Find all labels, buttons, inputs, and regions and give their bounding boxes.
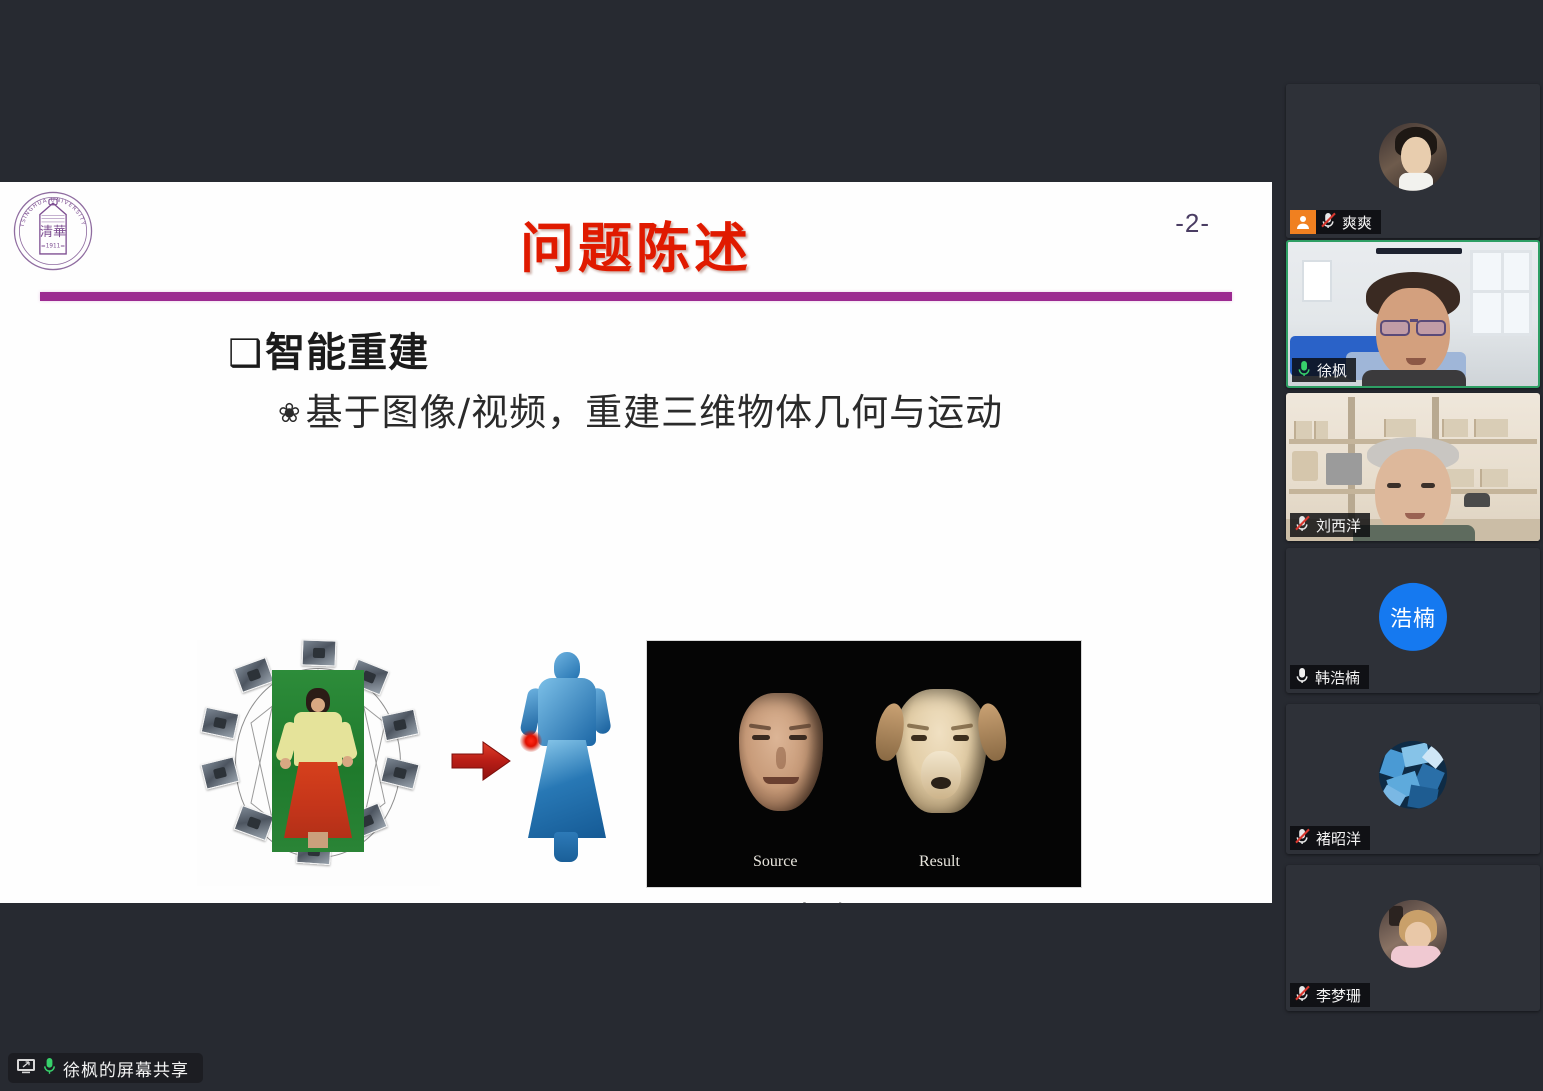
mic-on-icon (1295, 667, 1309, 688)
mic-on-icon (1297, 360, 1311, 381)
face-animation-figure: Source Result (646, 640, 1082, 888)
source-human-face (739, 693, 823, 811)
avatar-initials: 浩楠 (1390, 600, 1436, 632)
tile-name-chip: 韩浩楠 (1290, 665, 1369, 689)
green-screen-subject (272, 670, 364, 852)
video-subject (1354, 272, 1472, 388)
participant-name: 徐枫 (1317, 360, 1347, 381)
avatar (1379, 123, 1447, 191)
participant-tile[interactable]: 爽爽 (1286, 84, 1540, 238)
avatar: 浩楠 (1379, 582, 1447, 650)
rig-camera (200, 756, 239, 789)
video-subject (1359, 437, 1467, 541)
rig-camera (381, 709, 420, 742)
screen-share-icon (16, 1058, 36, 1079)
red-arrow-icon (450, 737, 512, 785)
tile-name-chip: 褚昭洋 (1290, 826, 1370, 850)
tile-badge-row: 韩浩楠 (1290, 665, 1369, 689)
participant-tile[interactable]: 刘西洋 (1286, 393, 1540, 541)
figure-caption-face-animation: 人脸动画 (790, 894, 914, 903)
camera-rig (197, 640, 440, 886)
result-dog-face (895, 689, 987, 813)
screen-share-status-badge: 徐枫的屏幕共享 (8, 1053, 203, 1083)
tile-name-chip: 李梦珊 (1290, 983, 1370, 1007)
tile-name-chip: 刘西洋 (1290, 513, 1370, 537)
tile-badge-row: 爽爽 (1290, 210, 1381, 234)
tile-badge-row: 褚昭洋 (1290, 826, 1370, 850)
tile-name-chip: 爽爽 (1316, 210, 1381, 234)
participant-name: 爽爽 (1342, 212, 1372, 233)
participant-tile[interactable]: 褚昭洋 (1286, 704, 1540, 854)
presentation-slide[interactable]: 清華 =1911= TSINGHUA UNIVERSITY 问题陈述 -2- ❑… (0, 182, 1272, 903)
participant-strip[interactable]: 爽爽 (1283, 0, 1543, 1091)
slide-page-number: -2- (1175, 208, 1210, 239)
share-badge-label: 徐枫的屏幕共享 (63, 1056, 189, 1081)
flower-bullet-glyph: ❀ (278, 398, 302, 429)
tile-badge-row: 刘西洋 (1290, 513, 1370, 537)
bullet-level1-text: 智能重建 (265, 330, 429, 376)
meeting-window: 清華 =1911= TSINGHUA UNIVERSITY 问题陈述 -2- ❑… (0, 0, 1543, 1091)
square-bullet-glyph: ❑ (228, 331, 263, 375)
participant-tile[interactable]: 徐枫 (1286, 240, 1540, 388)
participant-tile[interactable]: 李梦珊 (1286, 865, 1540, 1011)
mic-off-icon (1321, 212, 1336, 233)
slide-title: 问题陈述 (0, 204, 1272, 283)
blue-3d-mesh-reconstruction (518, 652, 614, 870)
label-result: Result (919, 853, 960, 871)
figure-caption-multiview: 多视角重建 (300, 900, 455, 903)
highlight-marker (520, 730, 542, 752)
tile-badge-row: 李梦珊 (1290, 983, 1370, 1007)
bullet-level2-text: 基于图像/视频，重建三维物体几何与运动 (306, 391, 1003, 434)
mic-off-icon (1295, 828, 1310, 849)
participant-name: 李梦珊 (1316, 985, 1361, 1006)
participant-name: 褚昭洋 (1316, 828, 1361, 849)
avatar (1379, 741, 1447, 809)
label-source: Source (753, 853, 797, 871)
bullet-level2: ❀基于图像/视频，重建三维物体几何与运动 (278, 382, 1003, 436)
participant-tile[interactable]: 浩楠 韩浩楠 (1286, 548, 1540, 693)
avatar (1379, 900, 1447, 968)
participant-name: 韩浩楠 (1315, 667, 1360, 688)
rig-camera (302, 639, 337, 666)
participant-name: 刘西洋 (1316, 515, 1361, 536)
mic-on-icon (43, 1057, 56, 1080)
shared-screen-region[interactable]: 清華 =1911= TSINGHUA UNIVERSITY 问题陈述 -2- ❑… (0, 0, 1278, 1091)
bullet-level1: ❑智能重建 (228, 320, 429, 378)
mic-off-icon (1295, 985, 1310, 1006)
rig-camera (201, 707, 240, 740)
mic-off-icon (1295, 515, 1310, 536)
tile-badge-row: 徐枫 (1292, 358, 1356, 382)
host-person-icon (1290, 210, 1316, 234)
title-divider-rule (40, 292, 1232, 301)
tile-name-chip: 徐枫 (1292, 358, 1356, 382)
multi-view-reconstruction-figure (197, 640, 440, 886)
